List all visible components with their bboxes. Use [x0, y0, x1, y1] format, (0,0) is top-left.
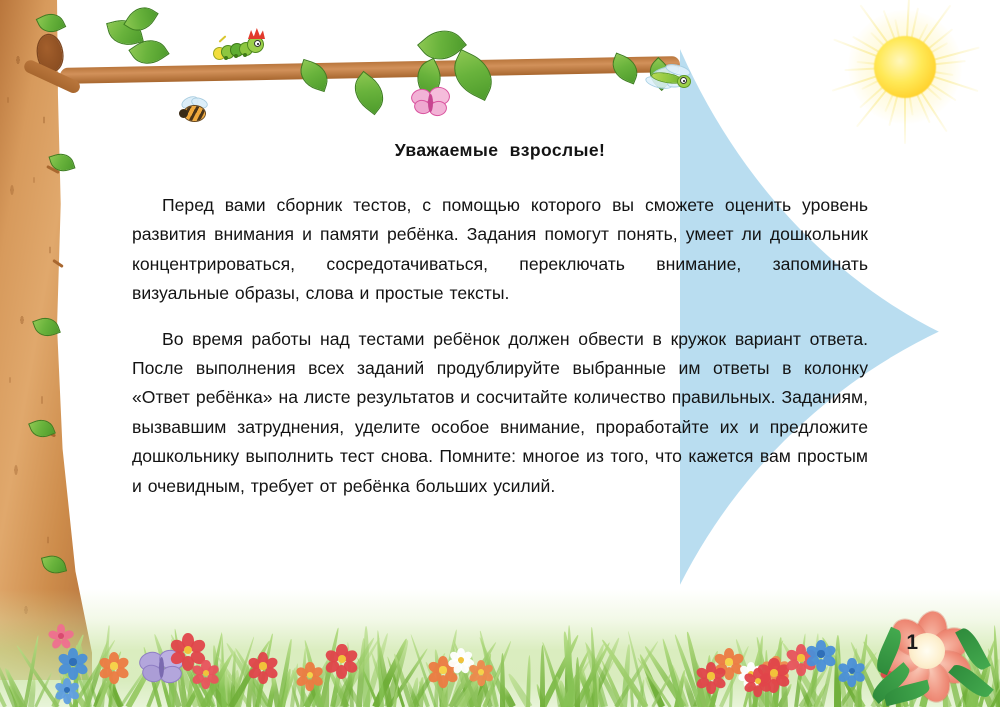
page-title: Уважаемые взрослые! [132, 140, 868, 161]
flower-center [338, 655, 346, 663]
flower-center [797, 654, 804, 661]
butterfly-body [428, 94, 433, 112]
flower-red [196, 663, 216, 683]
caterpillar-antenna [218, 35, 226, 43]
flower-red [252, 655, 274, 677]
caterpillar-foot [224, 56, 228, 60]
flower-orange [103, 655, 125, 677]
flower-center [707, 672, 714, 679]
flower-center [259, 662, 266, 669]
caterpillar-foot [243, 53, 247, 57]
flower-center [770, 669, 778, 677]
bee [176, 98, 212, 128]
flower-center [110, 662, 117, 669]
paragraph: Перед вами сборник тестов, с помощью кот… [132, 191, 868, 309]
cornflower-blue [842, 661, 862, 681]
leaf [348, 72, 391, 113]
flower-center [69, 658, 76, 665]
flower-petal [50, 637, 63, 650]
page-number: 1 [906, 631, 918, 655]
butterfly-pink [412, 88, 452, 118]
flower-orange [472, 663, 490, 681]
flower-center [64, 687, 70, 693]
bee-head [179, 109, 188, 118]
sun-core [874, 36, 936, 98]
flower-center [725, 658, 732, 665]
flower-center [58, 633, 64, 639]
flower-center [458, 657, 464, 663]
tree-trunk-texture [0, 0, 92, 680]
flower-red [748, 671, 768, 691]
text-content: Уважаемые взрослые! Перед вами сборник т… [132, 140, 868, 517]
daisy-white [452, 651, 470, 669]
cornflower-blue [810, 643, 832, 665]
sun [812, 0, 992, 162]
flower-red [330, 647, 354, 671]
caterpillar-foot [234, 54, 238, 58]
cornflower-blue [58, 681, 76, 699]
flower-center [439, 666, 446, 673]
book-page: Уважаемые взрослые! Перед вами сборник т… [0, 0, 1000, 707]
butterfly-body [159, 657, 164, 678]
caterpillar-crest [248, 28, 265, 39]
flower-center [478, 669, 484, 675]
flower-red [175, 637, 201, 663]
cornflower-blue [62, 651, 84, 673]
dragonfly [644, 62, 700, 98]
grass-border [0, 589, 1000, 707]
flower-center [817, 650, 824, 657]
flower-red [700, 665, 722, 687]
paragraph: Во время работы над тестами ребёнок долж… [132, 325, 868, 501]
flower-pink [52, 627, 70, 645]
caterpillar [212, 28, 272, 68]
flower-orange [300, 665, 320, 685]
